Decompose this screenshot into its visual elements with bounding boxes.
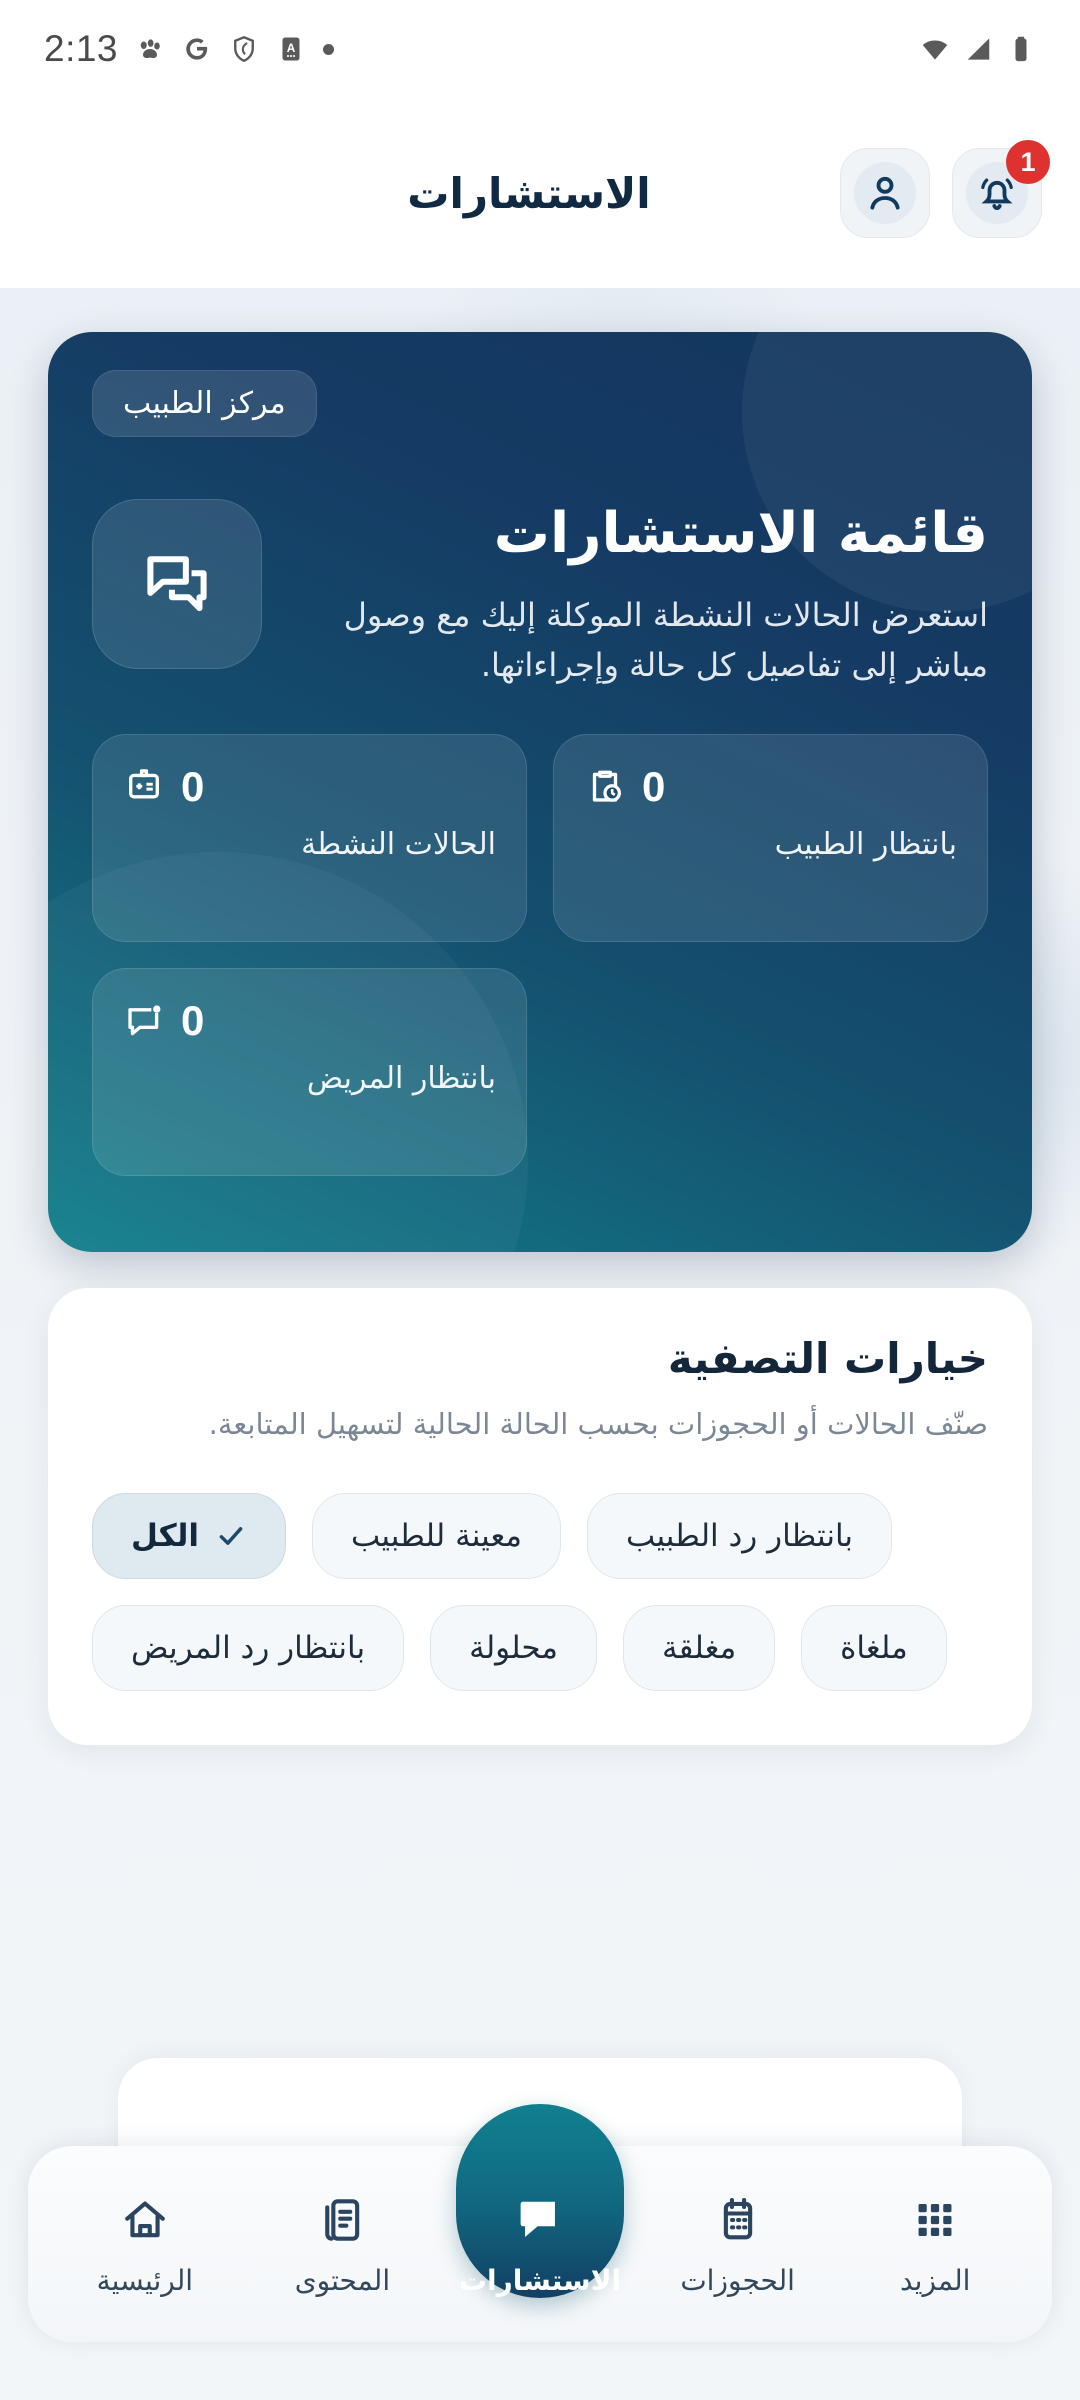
hero-title: قائمة الاستشارات (292, 499, 988, 569)
google-icon (182, 34, 212, 64)
filter-options-card: خيارات التصفية صنّف الحالات أو الحجوزات … (48, 1288, 1032, 1745)
clipboard-clock-icon (584, 766, 626, 808)
app-header: 1 الاستشارات (0, 98, 1080, 288)
svg-text:A: A (287, 41, 296, 55)
scroll-content[interactable]: مركز الطبيب قائمة الاستشارات استعرض الحا… (0, 288, 1080, 2400)
chat-icon (512, 2192, 568, 2248)
calendar-icon (712, 2192, 764, 2248)
stat-label: الحالات النشطة (123, 825, 496, 864)
app-screen: 2:13 A (0, 0, 1080, 2400)
nav-item-consultations[interactable]: الاستشارات (441, 2146, 639, 2342)
status-bar-left: 2:13 A (44, 28, 334, 70)
hero-card: مركز الطبيب قائمة الاستشارات استعرض الحا… (48, 332, 1032, 1252)
hero-description: استعرض الحالات النشطة الموكلة إليك مع وص… (292, 591, 988, 690)
stat-label: بانتظار الطبيب (584, 825, 957, 864)
stat-label: بانتظار المريض (123, 1059, 496, 1098)
nav-label: الحجوزات (680, 2264, 795, 2297)
cellular-signal-icon (963, 34, 993, 64)
battery-icon (1006, 34, 1036, 64)
hero-stats-row-2: 0 بانتظار المريض (92, 968, 988, 1176)
filter-chip-label: مغلقة (662, 1630, 736, 1666)
filter-chip-label: الكل (131, 1518, 199, 1554)
chat-bubbles-icon (139, 546, 215, 622)
notifications-badge: 1 (1006, 140, 1050, 184)
filter-chip-awaiting-patient-reply[interactable]: بانتظار رد المريض (92, 1605, 404, 1691)
nav-item-more[interactable]: المزيد (836, 2146, 1034, 2342)
filter-chip-label: معينة للطبيب (351, 1518, 522, 1554)
status-bar: 2:13 A (0, 0, 1080, 98)
nav-label: المزيد (900, 2264, 970, 2297)
filter-subtitle: صنّف الحالات أو الحجوزات بحسب الحالة الح… (92, 1403, 988, 1447)
filter-title: خيارات التصفية (92, 1334, 988, 1383)
filter-chip-awaiting-doctor-reply[interactable]: بانتظار رد الطبيب (587, 1493, 892, 1579)
stat-value: 0 (181, 763, 204, 811)
home-icon (119, 2192, 171, 2248)
filter-chip-label: بانتظار رد الطبيب (626, 1518, 853, 1554)
chat-dot-icon (123, 1000, 165, 1042)
nav-item-home[interactable]: الرئيسية (46, 2146, 244, 2342)
stat-card-awaiting-patient[interactable]: 0 بانتظار المريض (92, 968, 527, 1176)
stat-card-active-cases[interactable]: 0 الحالات النشطة (92, 734, 527, 942)
shield-icon (229, 34, 259, 64)
status-bar-clock: 2:13 (44, 28, 118, 70)
document-icon (316, 2192, 368, 2248)
filter-chip-resolved[interactable]: محلولة (430, 1605, 597, 1691)
nav-label: الاستشارات (459, 2264, 621, 2297)
filter-chip-label: بانتظار رد المريض (131, 1630, 365, 1666)
a-app-icon: A (276, 34, 306, 64)
stat-value: 0 (642, 763, 665, 811)
hero-icon-container (92, 499, 262, 669)
stat-card-awaiting-doctor[interactable]: 0 بانتظار الطبيب (553, 734, 988, 942)
status-bar-right (920, 34, 1036, 64)
profile-button[interactable] (840, 148, 930, 238)
filter-chip-label: ملغاة (840, 1630, 908, 1666)
check-icon (215, 1520, 247, 1552)
nav-label: الرئيسية (97, 2264, 193, 2297)
wifi-icon (920, 34, 950, 64)
bottom-navigation: الرئيسية المحتوى (28, 2146, 1052, 2342)
pets-icon (135, 34, 165, 64)
nav-item-bookings[interactable]: الحجوزات (639, 2146, 837, 2342)
person-icon (862, 170, 908, 216)
dot-icon (323, 44, 334, 55)
nav-item-content[interactable]: المحتوى (244, 2146, 442, 2342)
filter-chip-assigned-to-doctor[interactable]: معينة للطبيب (312, 1493, 561, 1579)
filter-chip-closed[interactable]: مغلقة (623, 1605, 775, 1691)
filter-chip-group: الكل معينة للطبيب بانتظار رد الطبيب بانت… (92, 1493, 988, 1691)
nav-label: المحتوى (295, 2264, 390, 2297)
notifications-button[interactable]: 1 (952, 148, 1042, 238)
filter-chip-cancelled[interactable]: ملغاة (801, 1605, 947, 1691)
id-badge-plus-icon (123, 766, 165, 808)
filter-chip-all[interactable]: الكل (92, 1493, 286, 1579)
hero-stats-row-1: 0 بانتظار الطبيب 0 ا (92, 734, 988, 942)
grid-icon (909, 2192, 961, 2248)
stat-value: 0 (181, 997, 204, 1045)
hero-badge: مركز الطبيب (92, 370, 317, 437)
filter-chip-label: محلولة (469, 1630, 558, 1666)
